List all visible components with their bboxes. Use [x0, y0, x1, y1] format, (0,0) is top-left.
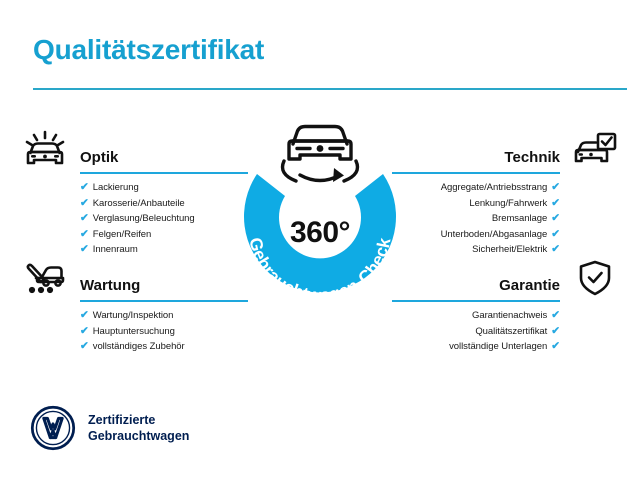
section-optik: Optik ✔Lackierung ✔Karosserie/Anbauteile…: [18, 128, 248, 174]
shield-check-icon: [568, 256, 622, 300]
section-wartung-title: Wartung: [80, 277, 140, 294]
list-item: ✔Hauptuntersuchung: [80, 324, 185, 340]
check-icon: ✔: [551, 228, 560, 240]
check-icon: ✔: [551, 309, 560, 321]
check-icon: ✔: [551, 243, 560, 255]
check-icon: ✔: [551, 181, 560, 193]
list-item: Unterboden/Abgasanlage✔: [441, 227, 560, 243]
car-checkbox-icon: [568, 128, 622, 172]
list-item-label: Lackierung: [93, 182, 139, 193]
section-wartung-header: Wartung: [18, 256, 248, 302]
check-icon: ✔: [551, 197, 560, 209]
list-item-label: Verglasung/Beleuchtung: [93, 213, 195, 224]
list-item-label: Innenraum: [93, 244, 138, 255]
list-item: ✔Felgen/Reifen: [80, 227, 195, 243]
list-item: Aggregate/Antriebsstrang✔: [441, 180, 560, 196]
list-item-label: vollständiges Zubehör: [93, 341, 185, 352]
section-garantie-title: Garantie: [499, 277, 560, 294]
vw-logo: [30, 405, 76, 451]
footer-brand: Zertifizierte Gebrauchtwagen: [30, 405, 189, 451]
section-wartung: Wartung ✔Wartung/Inspektion ✔Hauptunters…: [18, 256, 248, 302]
section-technik: Technik Aggregate/Antriebsstrang✔ Lenkun…: [392, 128, 622, 174]
list-item-label: Hauptuntersuchung: [93, 326, 175, 337]
list-item: ✔Wartung/Inspektion: [80, 308, 185, 324]
list-item-label: Felgen/Reifen: [93, 229, 152, 240]
section-technik-header: Technik: [392, 128, 622, 174]
list-item-label: Aggregate/Antriebsstrang: [441, 182, 548, 193]
footer-line-1: Zertifizierte: [88, 412, 189, 428]
optik-check-list: ✔Lackierung ✔Karosserie/Anbauteile ✔Verg…: [80, 180, 195, 258]
list-item-label: Unterboden/Abgasanlage: [441, 229, 548, 240]
car-lift-wrench-icon: [18, 256, 72, 300]
list-item: ✔vollständiges Zubehör: [80, 339, 185, 355]
list-item: ✔Verglasung/Beleuchtung: [80, 211, 195, 227]
section-optik-title: Optik: [80, 149, 118, 166]
check-icon: ✔: [80, 181, 89, 193]
list-item: Garantienachweis✔: [449, 308, 560, 324]
wartung-check-list: ✔Wartung/Inspektion ✔Hauptuntersuchung ✔…: [80, 308, 185, 355]
technik-check-list: Aggregate/Antriebsstrang✔ Lenkung/Fahrwe…: [441, 180, 560, 258]
check-icon: ✔: [551, 212, 560, 224]
check-icon: ✔: [80, 325, 89, 337]
check-icon: ✔: [551, 340, 560, 352]
garantie-check-list: Garantienachweis✔ Qualitätszertifikat✔ v…: [449, 308, 560, 355]
list-item: ✔Karosserie/Anbauteile: [80, 196, 195, 212]
section-optik-header: Optik: [18, 128, 248, 174]
badge-value: 360°: [222, 216, 418, 250]
list-item-label: Bremsanlage: [492, 213, 547, 224]
list-item: Bremsanlage✔: [441, 211, 560, 227]
list-item: Qualitätszertifikat✔: [449, 324, 560, 340]
check-icon: ✔: [80, 212, 89, 224]
footer-line-2: Gebrauchtwagen: [88, 428, 189, 444]
check-icon: ✔: [80, 340, 89, 352]
list-item: vollständige Unterlagen✔: [449, 339, 560, 355]
list-item-label: Karosserie/Anbauteile: [93, 198, 185, 209]
car-shine-icon: [18, 128, 72, 172]
check-icon: ✔: [80, 243, 89, 255]
list-item-label: Garantienachweis: [472, 310, 547, 321]
page-title: Qualitätszertifikat: [33, 34, 264, 66]
check-icon: ✔: [80, 309, 89, 321]
header-divider: [33, 88, 627, 90]
list-item: ✔Lackierung: [80, 180, 195, 196]
car-rotate-icon: [283, 127, 358, 183]
check-icon: ✔: [551, 325, 560, 337]
list-item-label: Wartung/Inspektion: [93, 310, 174, 321]
list-item-label: Sicherheit/Elektrik: [472, 244, 547, 255]
list-item-label: Lenkung/Fahrwerk: [469, 198, 547, 209]
list-item-label: vollständige Unterlagen: [449, 341, 547, 352]
list-item: Lenkung/Fahrwerk✔: [441, 196, 560, 212]
certificate-page: Qualitätszertifikat: [0, 0, 640, 480]
check-icon: ✔: [80, 197, 89, 209]
section-technik-title: Technik: [504, 149, 560, 166]
section-garantie-header: Garantie: [392, 256, 622, 302]
footer-text: Zertifizierte Gebrauchtwagen: [88, 412, 189, 444]
list-item-label: Qualitätszertifikat: [475, 326, 547, 337]
badge-360-check: Gebrauchtwagen-Check 360°: [222, 112, 418, 322]
section-garantie: Garantie Garantienachweis✔ Qualitätszert…: [392, 256, 622, 302]
check-icon: ✔: [80, 228, 89, 240]
